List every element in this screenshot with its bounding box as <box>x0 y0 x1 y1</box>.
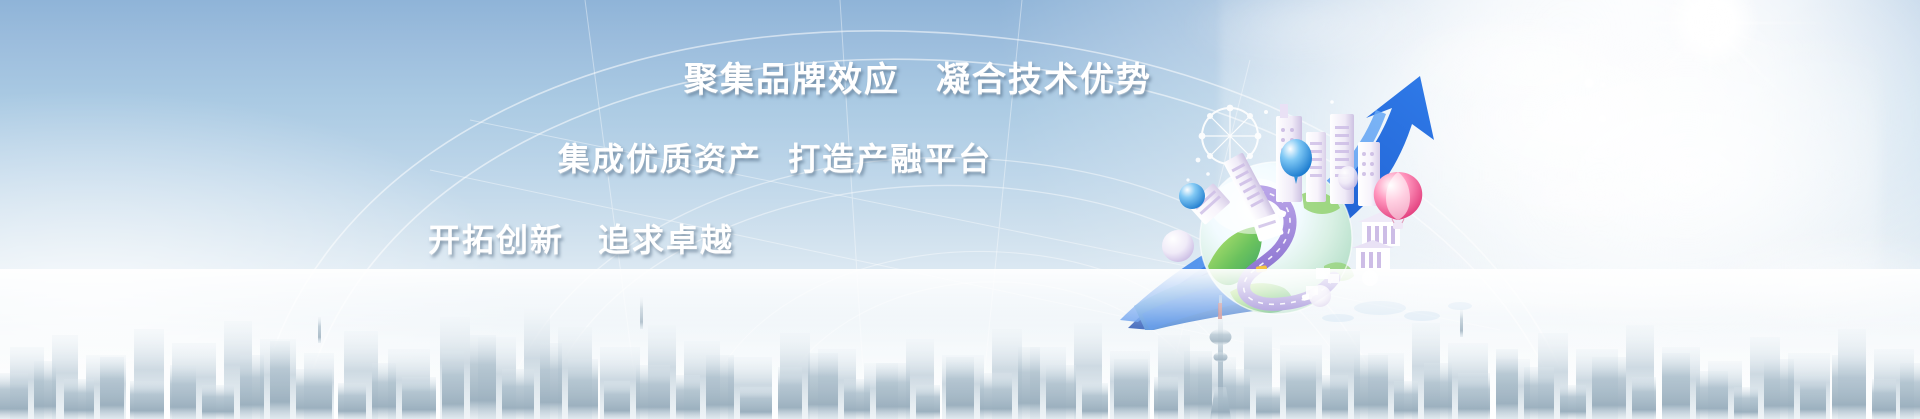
balloon-icon <box>1338 166 1358 190</box>
slogan-line-2: 集成优质资产 打造产融平台 <box>558 134 992 180</box>
sphere-icon <box>1179 183 1205 209</box>
sphere-icon <box>1162 230 1194 262</box>
city-skyline-silhouette <box>0 269 1920 419</box>
hero-banner: 聚集品牌效应 凝合技术优势 集成优质资产 打造产融平台 开拓创新 追求卓越 <box>0 0 1920 419</box>
ferris-wheel-icon <box>1199 105 1262 168</box>
slogan-line-1: 聚集品牌效应 凝合技术优势 <box>684 52 1152 101</box>
slogan-line-3: 开拓创新 追求卓越 <box>428 215 734 261</box>
